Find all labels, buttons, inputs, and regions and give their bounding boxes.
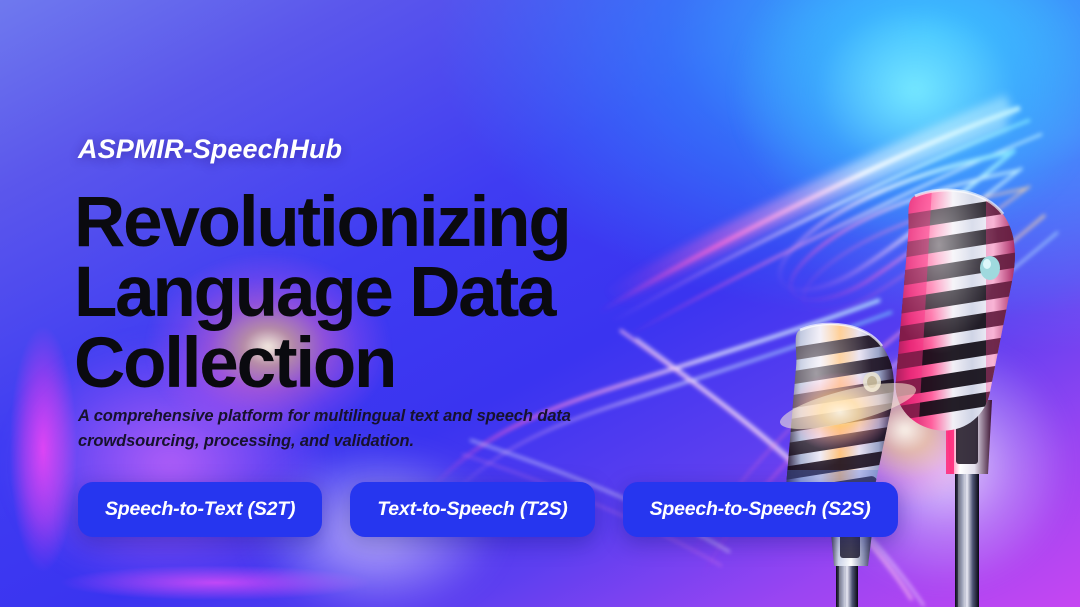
- hero-banner: ASPMIR-SpeechHub Revolutionizing Languag…: [0, 0, 1080, 607]
- headline-line-1: Revolutionizing: [74, 188, 794, 258]
- headline-line-3: Collection: [74, 329, 794, 399]
- hero-content: ASPMIR-SpeechHub Revolutionizing Languag…: [78, 0, 798, 607]
- cta-button-row: Speech-to-Text (S2T) Text-to-Speech (T2S…: [78, 482, 898, 537]
- hero-subtitle: A comprehensive platform for multilingua…: [78, 404, 758, 454]
- page-title: Revolutionizing Language Data Collection: [74, 188, 794, 399]
- speech-to-speech-button[interactable]: Speech-to-Speech (S2S): [623, 482, 898, 537]
- brand-name: ASPMIR-SpeechHub: [78, 134, 342, 165]
- subtitle-line-1: A comprehensive platform for multilingua…: [78, 404, 758, 429]
- text-to-speech-button[interactable]: Text-to-Speech (T2S): [350, 482, 594, 537]
- speech-to-text-button[interactable]: Speech-to-Text (S2T): [78, 482, 322, 537]
- headline-line-2: Language Data: [74, 258, 794, 328]
- subtitle-line-2: crowdsourcing, processing, and validatio…: [78, 429, 758, 454]
